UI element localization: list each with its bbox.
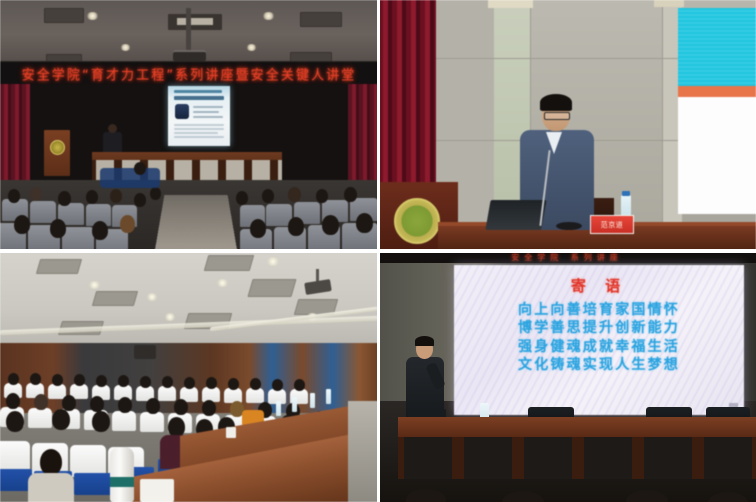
ceiling-vent-icon (36, 259, 82, 274)
wall-top-trim (488, 0, 533, 8)
slide-line-4: 文化铸魂实现人生梦想 (518, 356, 680, 374)
speaker-at-lectern-photo: 范京道 (378, 0, 756, 251)
screen-cyan-band (678, 8, 756, 86)
downlight-icon (86, 12, 99, 20)
ceiling-vent-icon (247, 279, 296, 297)
panel-separator-horizontal (0, 249, 756, 253)
wall-return (348, 401, 378, 502)
wall-seam (436, 58, 682, 59)
thermos-band (110, 477, 134, 487)
audience-person-torso (28, 473, 74, 502)
standing-person-head (134, 162, 146, 175)
foreground-audience-heads (378, 487, 756, 502)
wall-top-trim (654, 0, 684, 7)
downlight-icon (88, 281, 101, 289)
thermos-flask (110, 447, 134, 502)
university-crest-icon (50, 140, 65, 155)
paper-cup (226, 427, 236, 438)
audience-rows (0, 175, 378, 251)
downlight-icon (120, 44, 131, 51)
ceiling-projector (173, 50, 206, 61)
stage-curtain-left (0, 84, 30, 184)
slide-line-1: 向上向善培育家国情怀 (518, 301, 680, 319)
speaker-name-text: 范京道 (601, 220, 624, 230)
panel-top-right: 范京道 (378, 0, 756, 251)
downlight-icon (164, 313, 176, 321)
screen-orange-band (678, 86, 756, 97)
standing-person (100, 168, 160, 188)
red-curtain (378, 0, 436, 200)
led-banner-text: 安全学院 系列讲座 (511, 252, 623, 263)
speaker-head (108, 124, 117, 133)
speaker-name-card: 范京道 (590, 215, 634, 234)
slide-line-3: 强身健魂成就幸福生活 (518, 338, 680, 356)
screen-white-body (678, 97, 756, 214)
university-crest-icon (394, 198, 440, 244)
ceiling-vent-icon (92, 291, 138, 306)
microphone-base (556, 222, 582, 230)
speaker-glasses-icon (544, 112, 570, 120)
photo-collage: 安全学院“育才力工程”系列讲座暨安全关键人讲堂 (0, 0, 756, 502)
ceiling-vent-grille-icon (176, 17, 214, 26)
projector-mount (186, 8, 191, 52)
laptop (485, 200, 546, 230)
speaker-hair (415, 336, 434, 346)
led-banner: 安全学院“育才力工程”系列讲座暨安全关键人讲堂 (0, 62, 378, 84)
projection-screen (678, 8, 756, 214)
stage-curtain-right (348, 84, 378, 184)
ceiling-vent-icon (300, 12, 342, 27)
projected-slide: 寄 语 向上向善培育家国情怀 博学善思提升创新能力 强身健魂成就幸福生活 文化铸… (454, 265, 744, 415)
audience-seating-photo (0, 251, 378, 502)
stage-projection-screen (168, 86, 230, 146)
closing-slide-photo: 安全学院 系列讲座 寄 语 向上向善培育家国情怀 博学善思提升创新能力 强身健魂… (378, 251, 756, 502)
speaker-hair (540, 94, 572, 111)
wall-seam (662, 0, 663, 251)
panel-top-left: 安全学院“育才力工程”系列讲座暨安全关键人讲堂 (0, 0, 378, 251)
downlight-icon (146, 293, 158, 301)
panel-bottom-right: 安全学院 系列讲座 寄 语 向上向善培育家国情怀 博学善思提升创新能力 强身健魂… (378, 251, 756, 502)
downlight-icon (266, 257, 280, 266)
downlight-icon (216, 279, 229, 287)
head-table-front-panels (398, 437, 756, 479)
slide-line-2: 博学善思提升创新能力 (518, 319, 680, 337)
auditorium-wide-shot-photo: 安全学院“育才力工程”系列讲座暨安全关键人讲堂 (0, 0, 378, 251)
panel-bottom-left (0, 251, 378, 502)
led-banner-text: 安全学院“育才力工程”系列讲座暨安全关键人讲堂 (22, 63, 357, 83)
slide-title: 寄 语 (571, 275, 627, 296)
ceiling-vent-icon (44, 8, 84, 23)
tissue-box (140, 479, 174, 502)
ceiling-vent-icon (204, 255, 255, 271)
downlight-icon (246, 44, 257, 51)
water-bottle-cap (622, 191, 630, 196)
downlight-icon (262, 12, 275, 20)
